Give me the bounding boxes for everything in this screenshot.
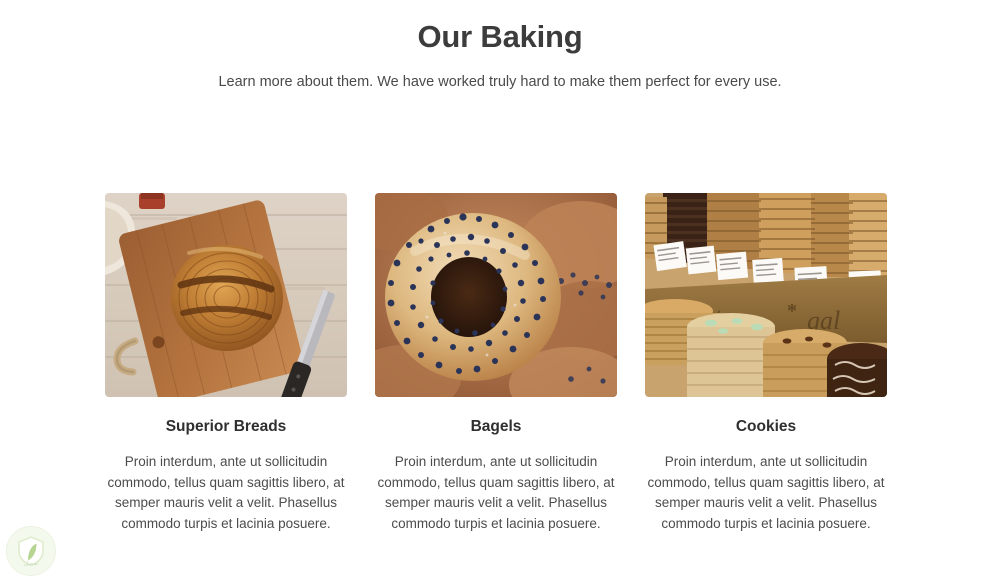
card-bagels[interactable]: Bagels Proin interdum, ante ut sollicitu… (375, 193, 617, 534)
page-title: Our Baking (0, 18, 1000, 56)
card-cookies[interactable]: * alata * gal (645, 193, 887, 534)
section-subtitle: Learn more about them. We have worked tr… (0, 72, 1000, 92)
card-title: Cookies (645, 417, 887, 437)
trust-badge-caption: تفضل (7, 560, 55, 567)
cards-grid: Superior Breads Proin interdum, ante ut … (105, 193, 887, 534)
trust-badge[interactable]: تفضل (6, 526, 56, 576)
cookie-bakery-display-photo[interactable]: * alata * gal (645, 193, 887, 397)
page-root: Our Baking Learn more about them. We hav… (0, 0, 1000, 581)
card-description: Proin interdum, ante ut sollicitudin com… (105, 452, 347, 534)
sourdough-loaf-on-cutting-board-photo[interactable] (105, 193, 347, 397)
card-title: Bagels (375, 417, 617, 437)
section-header: Our Baking Learn more about them. We hav… (0, 0, 1000, 92)
card-superior-breads[interactable]: Superior Breads Proin interdum, ante ut … (105, 193, 347, 534)
card-title: Superior Breads (105, 417, 347, 437)
poppy-seed-bagel-closeup-photo[interactable] (375, 193, 617, 397)
card-description: Proin interdum, ante ut sollicitudin com… (645, 452, 887, 534)
card-description: Proin interdum, ante ut sollicitudin com… (375, 452, 617, 534)
svg-text:*: * (787, 300, 797, 322)
